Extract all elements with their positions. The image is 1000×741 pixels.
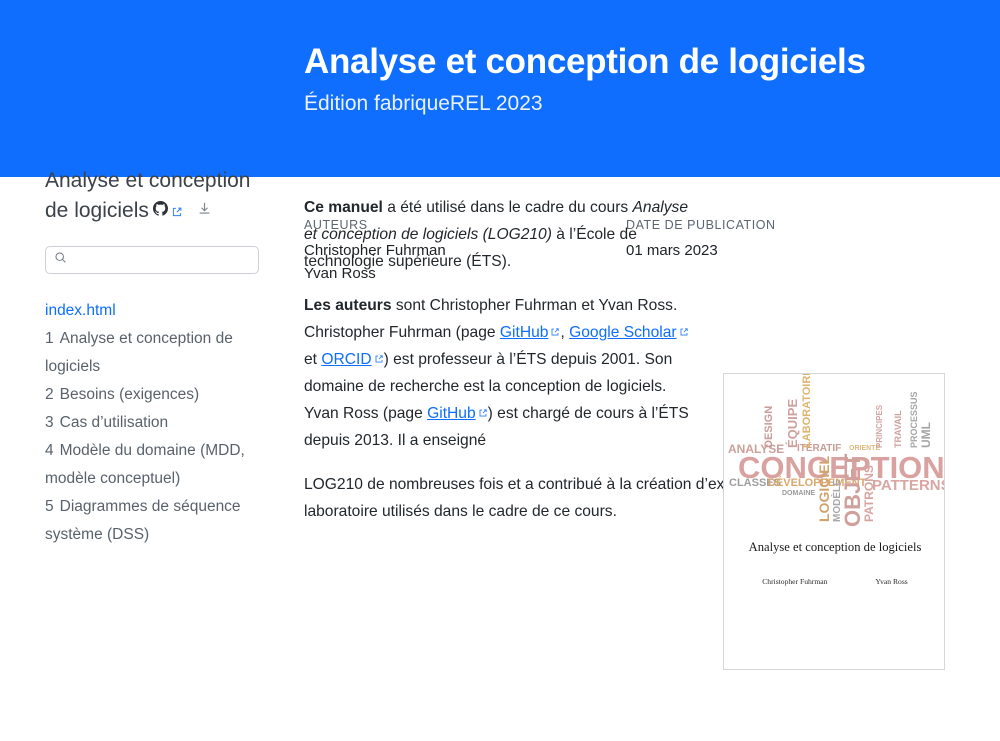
sidebar-item-index[interactable]: index.html [45, 297, 263, 325]
sidebar-item-1[interactable]: 1Analyse et conception de logiciels [45, 325, 263, 381]
sidebar-item-4-label: Modèle du domaine (MDD, modèle conceptue… [45, 442, 245, 487]
cover-wordcloud-word: DOMAINE [782, 490, 815, 497]
sidebar-title: Analyse et conception de logiciels [45, 166, 263, 225]
sep-et: et [304, 351, 321, 368]
sidebar-item-3-number: 3 [45, 414, 54, 431]
sidebar: Analyse et conception de logiciels index… [45, 166, 263, 549]
sidebar-item-1-label: Analyse et conception de logiciels [45, 330, 233, 375]
cover-wordcloud-word: LABORATOIRE [802, 373, 813, 448]
cover-wordcloud-word: ANALYSE [728, 443, 784, 455]
cover-wordcloud-word: PATTERNS [872, 478, 945, 493]
cover-wordcloud-word: LOGICIEL [817, 456, 831, 522]
sidebar-item-2[interactable]: 2Besoins (exigences) [45, 381, 263, 409]
fuhrman-pre: Christopher Fuhrman (page [304, 324, 500, 341]
sidebar-item-3-label: Cas d’utilisation [60, 414, 169, 431]
cover-wordcloud-word: UML [920, 422, 932, 448]
sidebar-item-5-label: Diagrammes de séquence système (DSS) [45, 498, 241, 543]
download-icon[interactable] [197, 195, 212, 210]
sidebar-item-4[interactable]: 4Modèle du domaine (MDD, modèle conceptu… [45, 437, 263, 493]
link-orcid[interactable]: ORCID [321, 351, 371, 368]
sep-comma: , [560, 324, 569, 341]
link-github-fuhrman[interactable]: GitHub [500, 324, 549, 341]
page-title: Analyse et conception de logiciels [304, 40, 904, 84]
sidebar-item-2-label: Besoins (exigences) [60, 386, 200, 403]
cover-wordcloud: CONCEPTIONPATTERNSANALYSECLASSESDÉVELOPP… [724, 400, 945, 528]
sidebar-item-3[interactable]: 3Cas d’utilisation [45, 409, 263, 437]
ross-line: Yvan Ross (page GitHub) est chargé de co… [304, 400, 704, 454]
page-subtitle: Édition fabriqueREL 2023 [304, 90, 904, 118]
banner-text-group: Analyse et conception de logiciels Éditi… [304, 40, 904, 118]
sidebar-item-1-number: 1 [45, 330, 54, 347]
external-link-icon[interactable] [171, 197, 183, 209]
main-content: Ce manuel a été utilisé dans le cadre du… [304, 194, 704, 542]
sidebar-item-5-number: 5 [45, 498, 54, 515]
sidebar-title-text: Analyse et conception de logiciels [45, 169, 250, 222]
paragraph-manuel-rest: a été utilisé dans le cadre du cours [383, 199, 628, 216]
sidebar-nav-list: index.html 1Analyse et conception de log… [45, 297, 263, 549]
cover-authors: Christopher Fuhrman Yvan Ross [724, 577, 945, 586]
link-github-ross[interactable]: GitHub [427, 405, 476, 422]
sidebar-item-4-number: 4 [45, 442, 54, 459]
paragraph-auteurs: Les auteurs sont Christopher Fuhrman et … [304, 292, 704, 454]
external-link-icon [478, 400, 488, 410]
ross-pre: Yvan Ross (page [304, 405, 427, 422]
search-box[interactable] [45, 246, 259, 274]
search-icon [54, 251, 67, 269]
paragraph-auteurs-rest: sont Christopher Fuhrman et Yvan Ross. [392, 297, 678, 314]
cover-wordcloud-word: PATRONS [863, 465, 875, 522]
sidebar-title-icon-group [153, 195, 212, 210]
cover-wordcloud-word: DESIGN [764, 406, 775, 448]
cover-title: Analyse et conception de logiciels [724, 540, 945, 555]
sidebar-item-5[interactable]: 5Diagrammes de séquence système (DSS) [45, 493, 263, 549]
cover-wordcloud-word: OBJET [842, 454, 864, 527]
paragraph-manuel: Ce manuel a été utilisé dans le cadre du… [304, 194, 704, 275]
paragraph-auteurs-lead: Les auteurs [304, 297, 392, 314]
cover-wordcloud-word: TRAVAIL [894, 410, 903, 448]
paragraph-manuel-lead: Ce manuel [304, 199, 383, 216]
page-banner: Analyse et conception de logiciels Éditi… [0, 0, 1000, 177]
github-icon[interactable] [153, 195, 168, 210]
book-cover-image: CONCEPTIONPATTERNSANALYSECLASSESDÉVELOPP… [723, 373, 945, 670]
cover-wordcloud-word: ÉQUIPE [786, 399, 799, 448]
external-link-icon [550, 319, 560, 329]
cover-author-name: Yvan Ross [875, 577, 907, 586]
external-link-icon [679, 319, 689, 329]
cover-wordcloud-word: PRINCIPES [876, 405, 884, 448]
sidebar-item-2-number: 2 [45, 386, 54, 403]
link-google-scholar[interactable]: Google Scholar [569, 324, 677, 341]
external-link-icon [374, 346, 384, 356]
cover-wordcloud-word: PROCESSUS [910, 391, 919, 448]
fuhrman-line: Christopher Fuhrman (page GitHub, Google… [304, 319, 704, 400]
cover-author-name: Christopher Fuhrman [762, 577, 827, 586]
search-input[interactable] [73, 252, 253, 269]
